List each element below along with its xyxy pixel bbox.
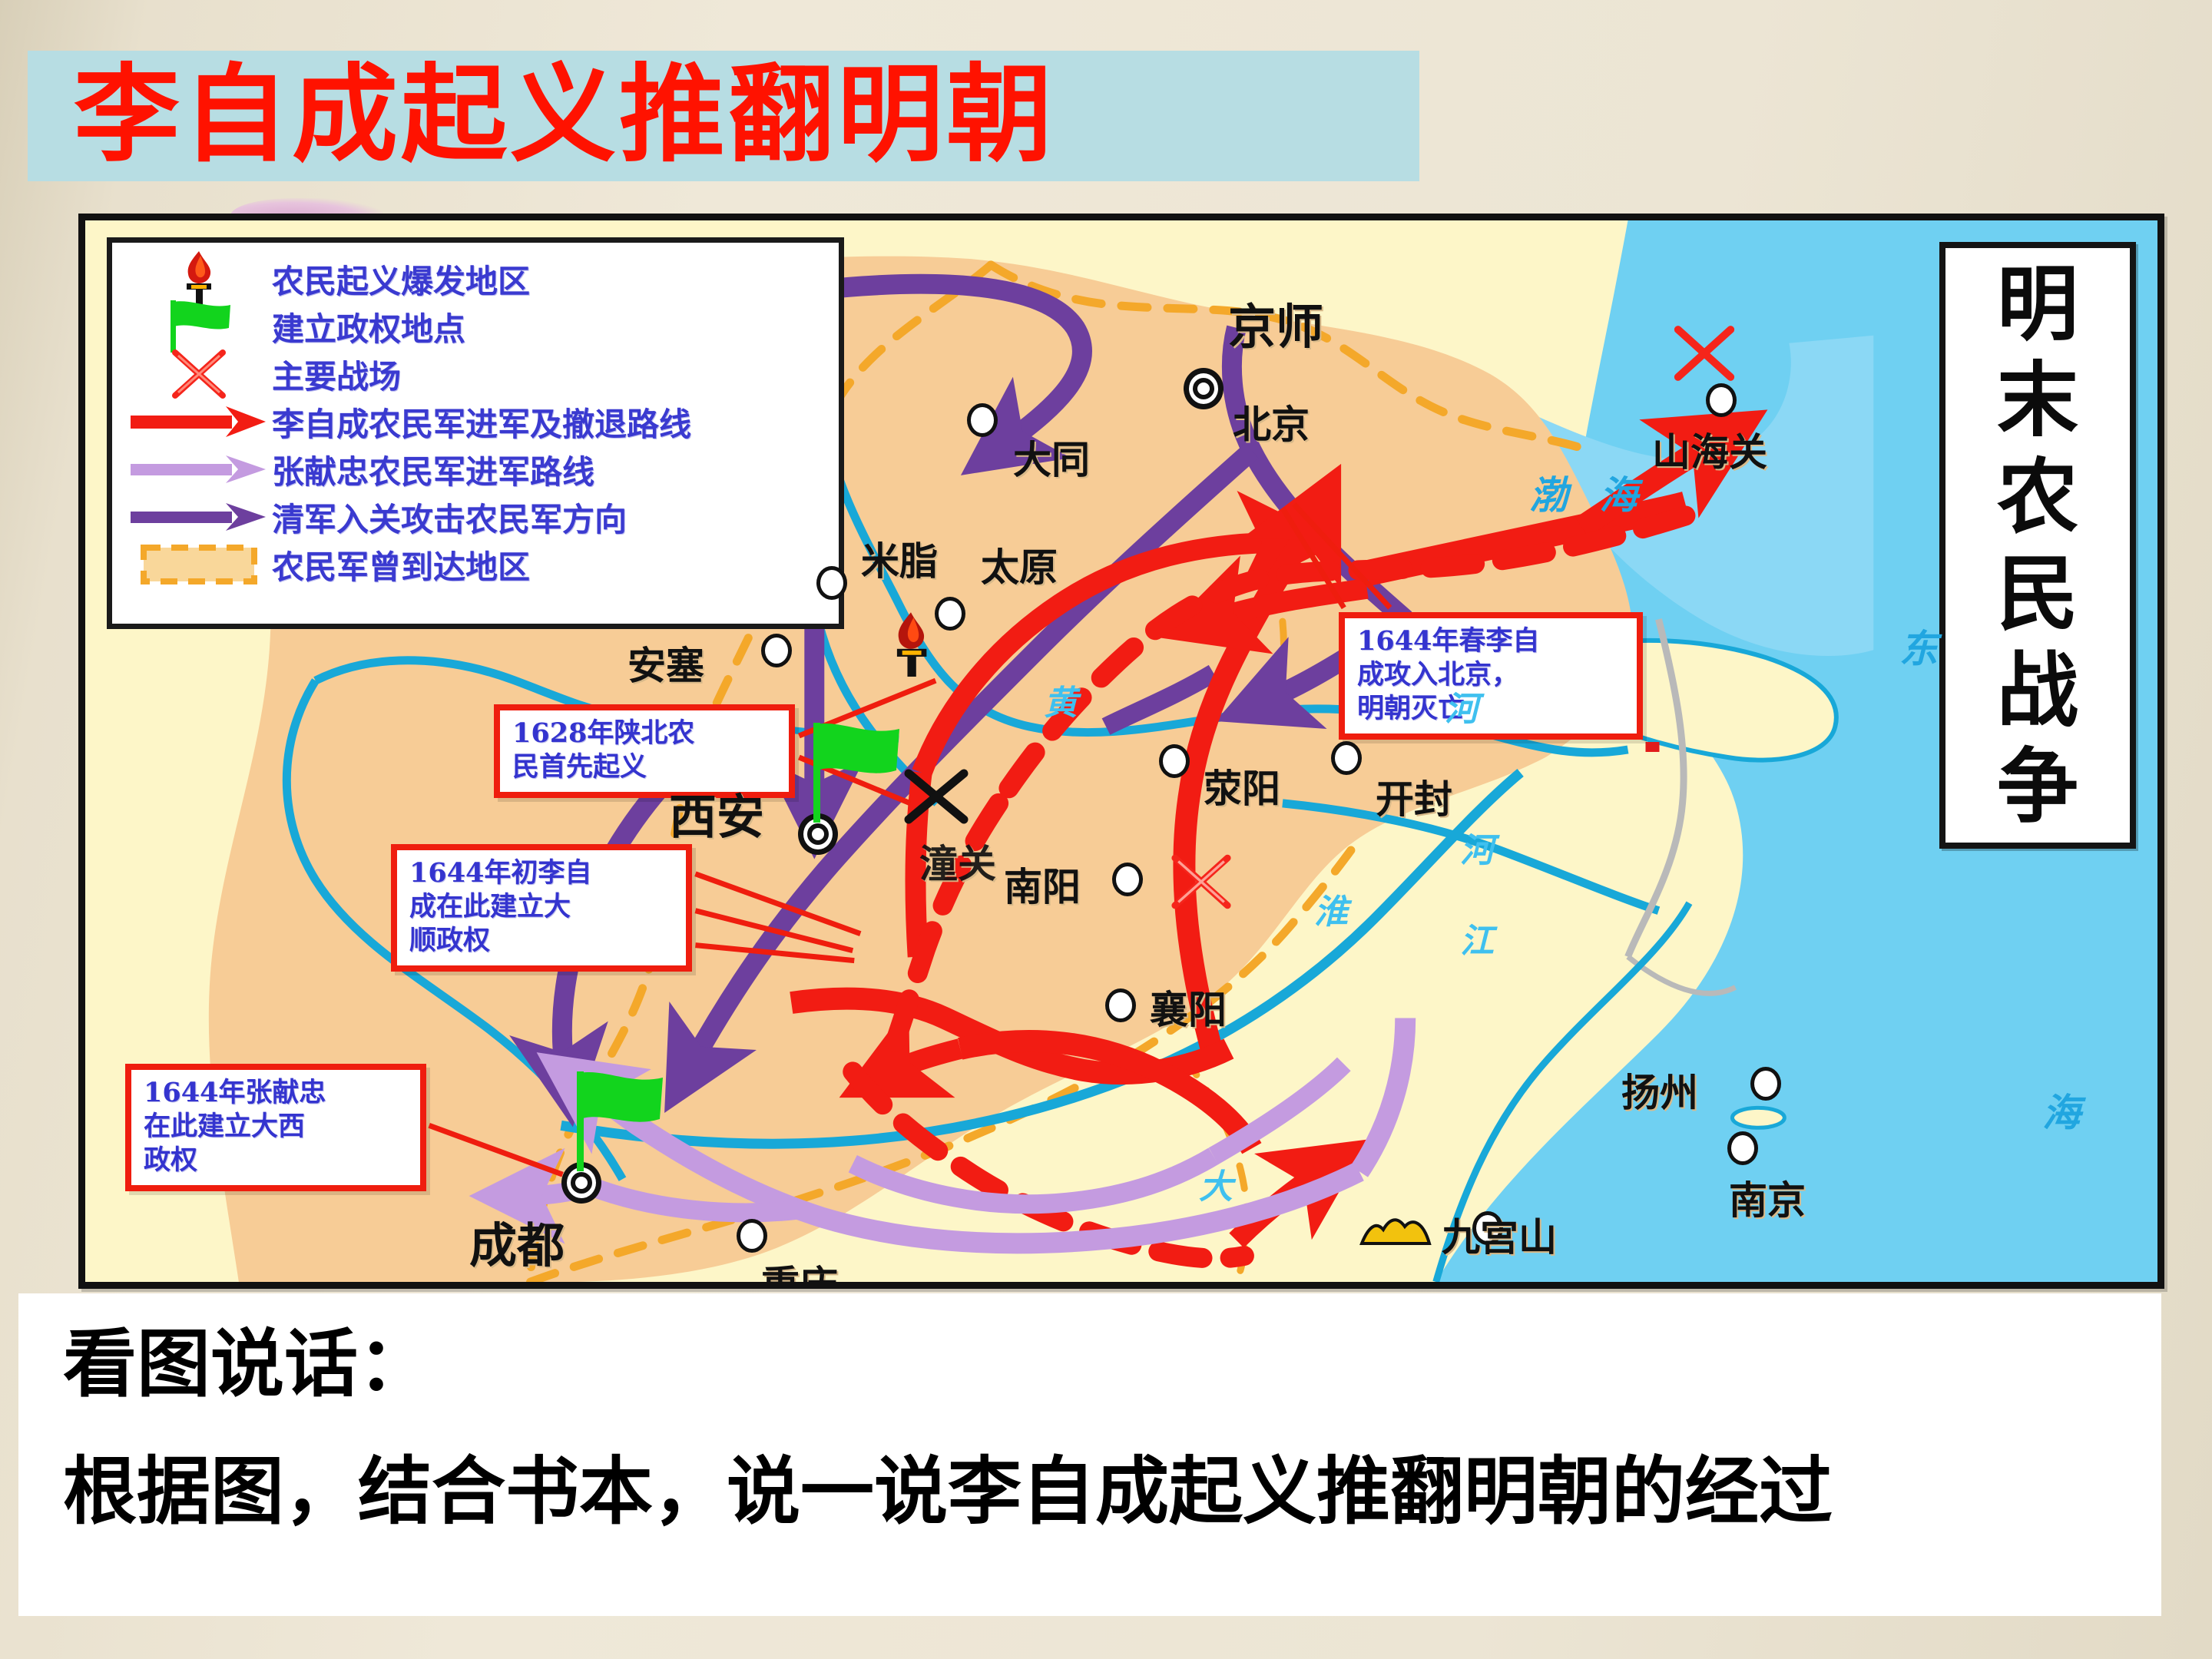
city-dot-yangzhou xyxy=(1750,1067,1781,1101)
city-dot-taiyuan xyxy=(935,597,965,631)
label-shanhaiguan: 山海关 xyxy=(1652,422,1767,477)
city-dot-kaifeng xyxy=(1331,741,1362,775)
city-dot-mizhi xyxy=(816,566,847,600)
city-dot-shanhaiguan xyxy=(1706,383,1737,417)
city-dot-ansai xyxy=(761,634,792,667)
river-label-da: 大 xyxy=(1199,1159,1233,1208)
crossed-swords-icon-shanhaiguan xyxy=(1671,322,1737,385)
sea-label-donghai-sea: 海 xyxy=(2042,1082,2081,1137)
label-jiugongshan: 九宫山 xyxy=(1442,1207,1557,1262)
city-dot-xiangyang xyxy=(1105,988,1136,1022)
question-box: 看图说话： 根据图，结合书本，说一说李自成起义推翻明朝的经过 xyxy=(18,1293,2161,1616)
crossed-swords-icon-nanyang xyxy=(1168,850,1234,913)
sea-label-bohai: 渤 海 xyxy=(1529,465,1647,520)
question-body: 根据图，结合书本，说一说李自成起义推翻明朝的经过 xyxy=(63,1449,2161,1535)
green-flag-icon-chengdu xyxy=(560,1068,675,1173)
green-flag-icon-xian xyxy=(796,720,912,824)
river-label-jiang: 江 xyxy=(1460,913,1494,962)
capital-dot-beijing xyxy=(1184,368,1224,409)
label-ansai: 安塞 xyxy=(628,635,704,690)
label-taiyuan: 太原 xyxy=(981,537,1058,592)
label-chengdu: 成都 xyxy=(469,1207,565,1276)
torch-icon-uprising-origin xyxy=(884,611,938,677)
label-nanjing: 南京 xyxy=(1729,1170,1806,1225)
label-datong: 大同 xyxy=(1013,429,1090,485)
label-mizhi: 米脂 xyxy=(861,531,938,586)
battle-cross-tongguan xyxy=(901,766,972,827)
label-beijing: 北京 xyxy=(1233,394,1310,449)
map-canvas: 农民起义爆发地区 建立政权地点 xyxy=(85,220,2157,1282)
label-tongguan: 潼关 xyxy=(919,833,996,889)
page-title: 李自成起义推翻明朝 xyxy=(74,57,1055,172)
city-dot-datong xyxy=(967,403,998,437)
river-label-huang: 黄 xyxy=(1044,675,1078,724)
label-chongqing: 重庆 xyxy=(761,1254,838,1282)
label-kaifeng: 开封 xyxy=(1376,769,1452,824)
label-jingshi: 京师 xyxy=(1228,288,1323,357)
sea-label-donghai-east: 东 xyxy=(1899,618,1938,674)
historical-map: 农民起义爆发地区 建立政权地点 xyxy=(78,214,2164,1289)
label-xian: 西安 xyxy=(669,778,764,847)
label-xingyang: 荥阳 xyxy=(1204,758,1280,813)
label-xiangyang: 襄阳 xyxy=(1150,979,1227,1035)
hill-icon-jiugongshan xyxy=(1357,1205,1434,1250)
river-label-he-upper: 河 xyxy=(1445,681,1479,730)
city-dot-chongqing xyxy=(737,1219,767,1253)
label-nanyang: 南阳 xyxy=(1004,856,1081,912)
city-dot-nanyang xyxy=(1112,863,1143,896)
callout-leader-lines xyxy=(85,220,2157,1282)
river-label-he-lower: 河 xyxy=(1460,823,1494,872)
label-yangzhou: 扬州 xyxy=(1621,1062,1698,1118)
city-dot-nanjing xyxy=(1727,1131,1758,1165)
question-heading: 看图说话： xyxy=(63,1320,2161,1409)
city-dot-xingyang xyxy=(1159,744,1190,778)
river-label-huai: 淮 xyxy=(1314,884,1348,933)
